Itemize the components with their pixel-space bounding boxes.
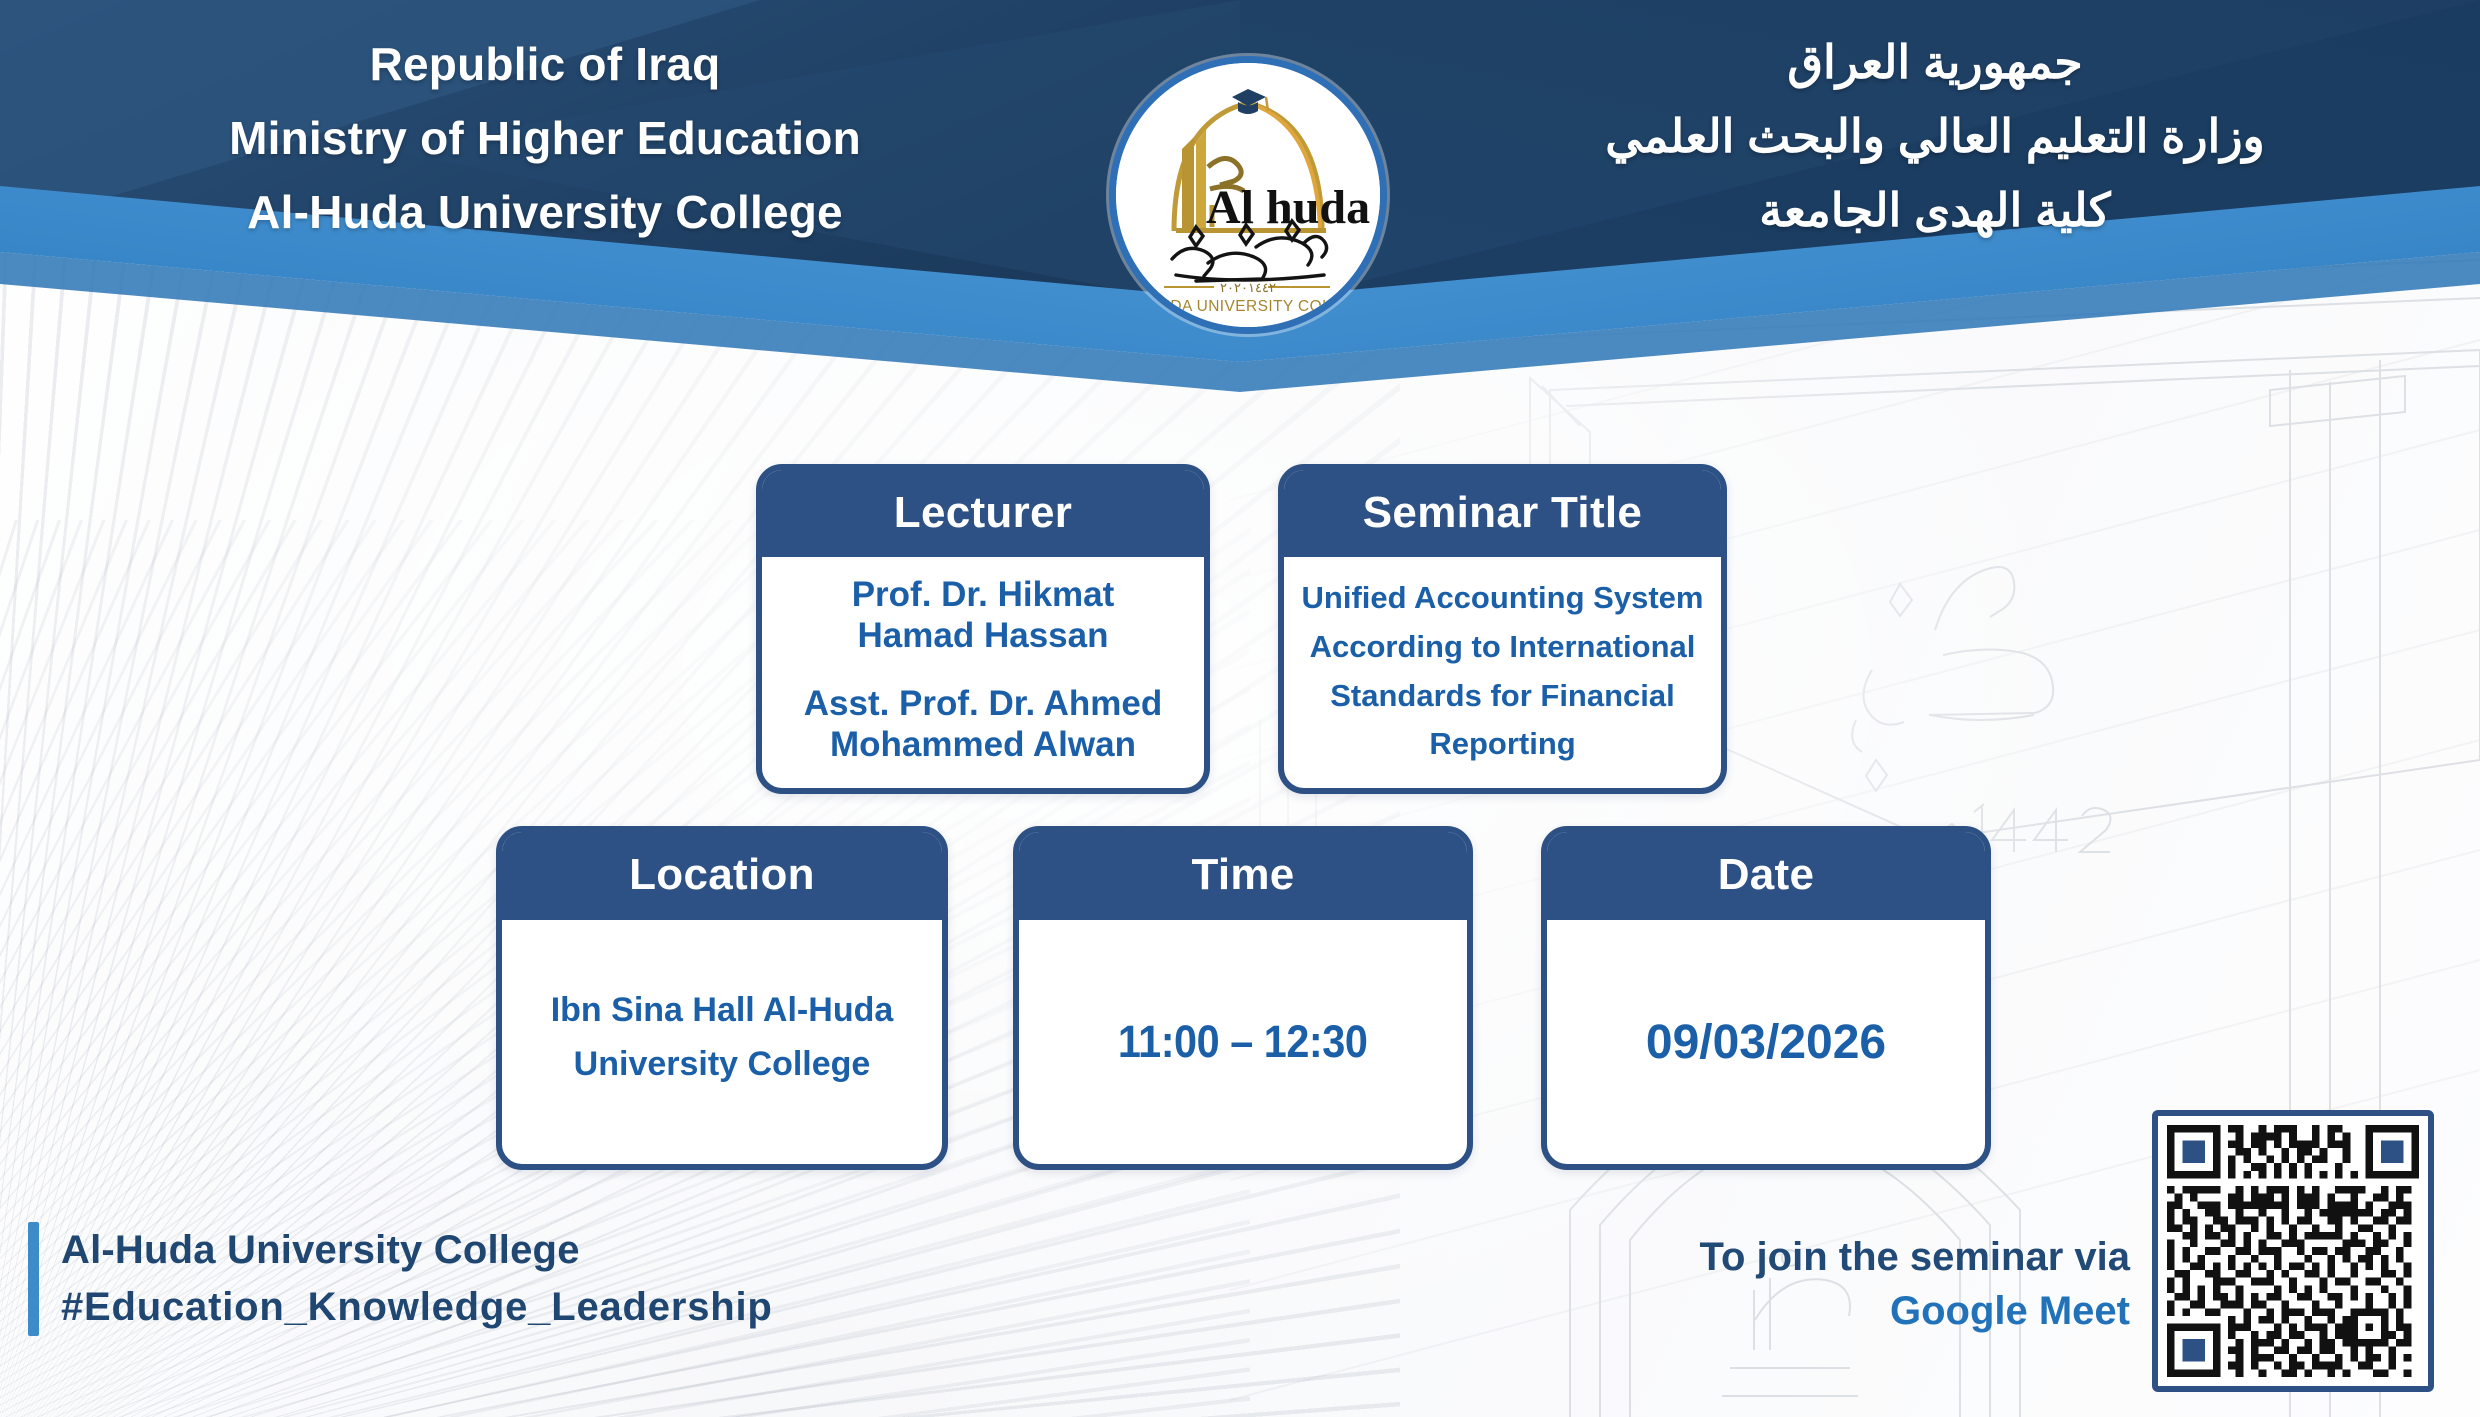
logo-year-en: ٢٠٢٠	[1220, 280, 1248, 295]
footer-college-name: Al-Huda University College	[61, 1222, 773, 1279]
card-seminar-title: Seminar Title Unified Accounting System …	[1278, 464, 1727, 794]
card-location: Location Ibn Sina Hall Al-Huda Universit…	[496, 826, 948, 1170]
date-value: 09/03/2026	[1646, 1015, 1886, 1070]
seminar-announcement-poster: Republic of Iraq Ministry of Higher Educ…	[0, 0, 2480, 1417]
header-en-line-3: Al-Huda University College	[150, 178, 940, 248]
footer-branding: Al-Huda University College #Education_Kn…	[28, 1222, 773, 1336]
footer-text-block: Al-Huda University College #Education_Kn…	[61, 1222, 773, 1336]
logo-year-ar: ١٤٤٢	[1248, 280, 1276, 295]
card-lecturer: Lecturer Prof. Dr. HikmatHamad Hassan As…	[756, 464, 1210, 794]
join-instructions: To join the seminar via Google Meet	[1700, 1230, 2130, 1339]
lecturer-name-2: Asst. Prof. Dr. AhmedMohammed Alwan	[804, 683, 1163, 766]
location-text: Ibn Sina Hall Al-Huda University College	[518, 984, 926, 1091]
header-en-line-1: Republic of Iraq	[150, 30, 940, 100]
header-arabic-text: جمهورية العراق وزارة التعليم العالي والب…	[1520, 0, 2350, 250]
header-en-line-2: Ministry of Higher Education	[150, 104, 940, 174]
card-time-title: Time	[1019, 832, 1467, 920]
footer-accent-bar	[28, 1222, 39, 1336]
card-date-body: 09/03/2026	[1547, 920, 1985, 1164]
card-date: Date 09/03/2026	[1541, 826, 1991, 1170]
header-ar-line-3: كلية الهدى الجامعة	[1520, 176, 2350, 246]
card-lecturer-title: Lecturer	[762, 470, 1204, 557]
card-date-title: Date	[1547, 832, 1985, 920]
card-time-body: 11:00 – 12:30	[1019, 920, 1467, 1164]
join-line-1: To join the seminar via	[1700, 1230, 2130, 1284]
card-seminar-heading: Seminar Title	[1284, 470, 1721, 557]
card-location-title: Location	[502, 832, 942, 920]
card-location-body: Ibn Sina Hall Al-Huda University College	[502, 920, 942, 1164]
header-ar-line-2: وزارة التعليم العالي والبحث العلمي	[1520, 102, 2350, 172]
card-lecturer-body: Prof. Dr. HikmatHamad Hassan Asst. Prof.…	[762, 557, 1204, 788]
lecturer-name-1: Prof. Dr. HikmatHamad Hassan	[852, 574, 1115, 657]
qr-code-image[interactable]	[2167, 1125, 2419, 1377]
header-english-text: Republic of Iraq Ministry of Higher Educ…	[150, 0, 940, 252]
header-ar-line-1: جمهورية العراق	[1520, 28, 2350, 98]
card-time: Time 11:00 – 12:30	[1013, 826, 1473, 1170]
university-logo: Al huda ٢٠٢٠ ١٤٤٢ AL-HUDA UNIVERSITY COL…	[1109, 56, 1387, 334]
footer-hashtag: #Education_Knowledge_Leadership	[61, 1279, 773, 1336]
qr-code[interactable]	[2152, 1110, 2434, 1392]
seminar-title-text: Unified Accounting System According to I…	[1298, 574, 1707, 770]
join-line-2: Google Meet	[1700, 1284, 2130, 1338]
card-seminar-body: Unified Accounting System According to I…	[1284, 557, 1721, 788]
time-value: 11:00 – 12:30	[1118, 1016, 1368, 1068]
